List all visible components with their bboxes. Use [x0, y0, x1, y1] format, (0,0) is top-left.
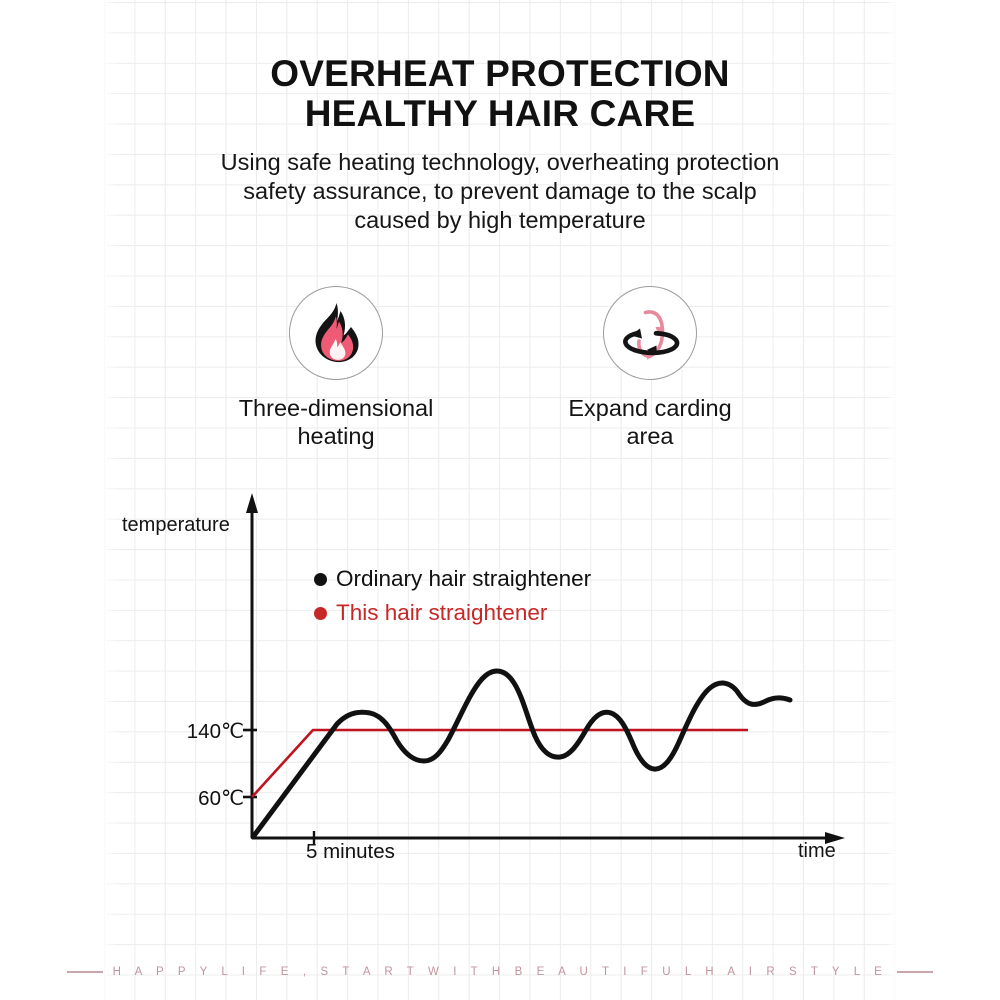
- y-tick-label-140: 140℃: [140, 719, 244, 744]
- page-title: OVERHEAT PROTECTION HEALTHY HAIR CARE: [0, 54, 1000, 134]
- y-tick-label-60: 60℃: [140, 786, 244, 811]
- footer-rule-left: [67, 971, 103, 972]
- legend-dot-icon: [314, 607, 327, 620]
- feature-label: Three-dimensional heating: [206, 394, 466, 450]
- feature-label-line-1: Expand carding: [520, 394, 780, 422]
- page-subtitle: Using safe heating technology, overheati…: [0, 148, 1000, 235]
- y-axis-arrowhead: [246, 493, 258, 513]
- feature-expand-carding-area: Expand carding area: [520, 286, 780, 450]
- feature-label: Expand carding area: [520, 394, 780, 450]
- rotation-3d-icon: [604, 287, 696, 379]
- feature-three-dimensional-heating: Three-dimensional heating: [206, 286, 466, 450]
- feature-icon-circle: [603, 286, 697, 380]
- series-ordinary-hair-straightener: [253, 671, 790, 837]
- subtitle-line-3: caused by high temperature: [0, 206, 1000, 235]
- subtitle-line-2: safety assurance, to prevent damage to t…: [0, 177, 1000, 206]
- feature-label-line-2: heating: [206, 422, 466, 450]
- x-axis-label: time: [798, 840, 836, 863]
- series-this-hair-straightener: [252, 730, 748, 797]
- feature-label-line-2: area: [520, 422, 780, 450]
- chart-legend: Ordinary hair straightener This hair str…: [314, 562, 591, 630]
- y-axis-label: temperature: [122, 514, 230, 537]
- headline-line-1: OVERHEAT PROTECTION: [0, 54, 1000, 94]
- flame-icon: [290, 287, 382, 379]
- feature-label-line-1: Three-dimensional: [206, 394, 466, 422]
- footer-tagline-text: H A P P Y L I F E , S T A R T W I T H B …: [113, 966, 888, 978]
- legend-label: Ordinary hair straightener: [336, 567, 591, 591]
- footer-tagline: H A P P Y L I F E , S T A R T W I T H B …: [0, 966, 1000, 978]
- feature-icon-circle: [289, 286, 383, 380]
- legend-label: This hair straightener: [336, 601, 547, 625]
- headline-line-2: HEALTHY HAIR CARE: [0, 94, 1000, 134]
- footer-rule-right: [897, 971, 933, 972]
- promo-infographic: OVERHEAT PROTECTION HEALTHY HAIR CARE Us…: [0, 0, 1000, 1000]
- legend-item-this: This hair straightener: [314, 596, 591, 630]
- subtitle-line-1: Using safe heating technology, overheati…: [0, 148, 1000, 177]
- legend-dot-icon: [314, 573, 327, 586]
- legend-item-ordinary: Ordinary hair straightener: [314, 562, 591, 596]
- x-tick-label-5-minutes: 5 minutes: [306, 840, 395, 864]
